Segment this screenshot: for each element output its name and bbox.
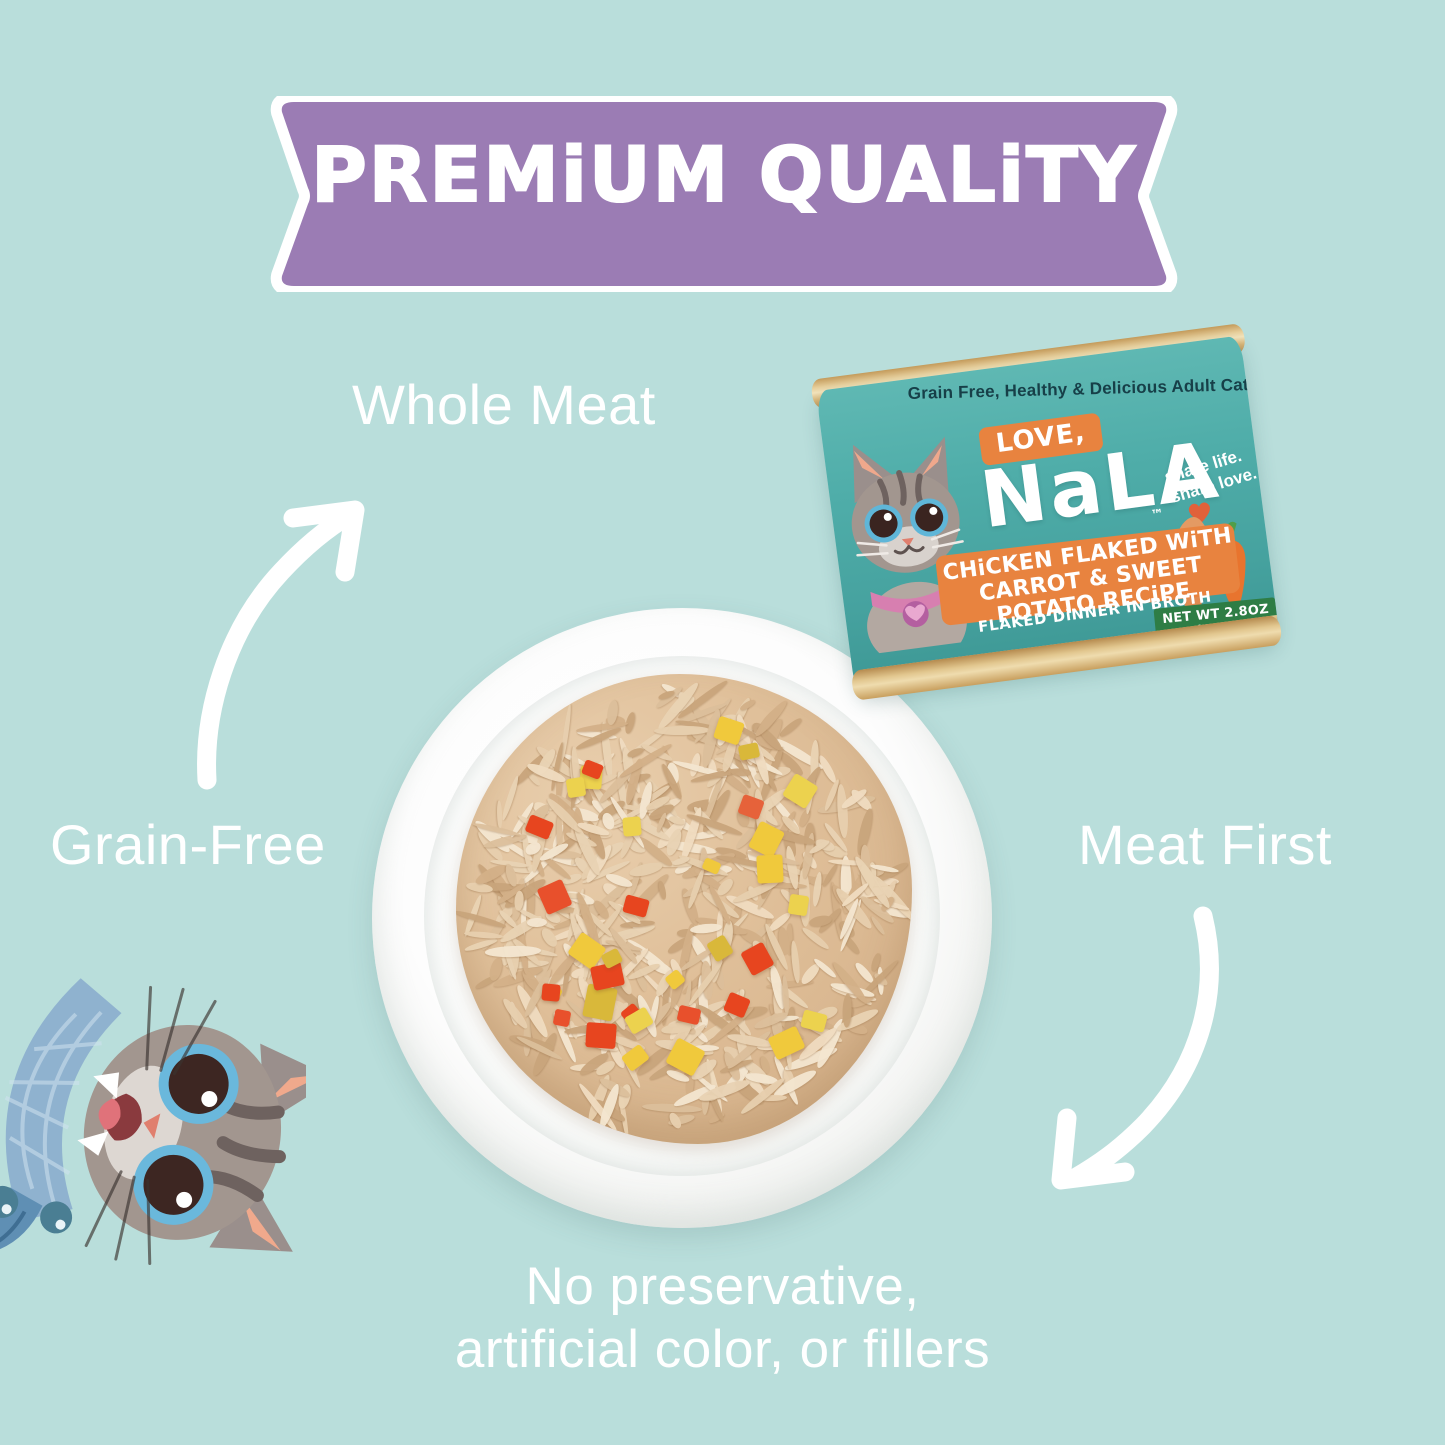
label-meat-first: Meat First bbox=[1078, 812, 1332, 877]
food-pile bbox=[456, 674, 912, 1144]
cat-food-can: Grain Free, Healthy & Delicious Adult Ca… bbox=[805, 316, 1290, 715]
label-grain-free: Grain-Free bbox=[50, 812, 326, 877]
can-tagline: Grain Free, Healthy & Delicious Adult Ca… bbox=[908, 375, 1238, 404]
premium-quality-banner: PREMiUM QUALiTY bbox=[268, 96, 1180, 292]
banner-title: PREMiUM QUALiTY bbox=[268, 130, 1180, 220]
label-whole-meat: Whole Meat bbox=[352, 372, 656, 437]
poster-canvas: PREMiUM QUALiTY Whole Meat Grain-Free Me… bbox=[0, 0, 1445, 1445]
nala-cat-mascot-icon: cartoon grey tabby cat with blue plaid b… bbox=[0, 932, 306, 1332]
curved-arrow-up-right-icon bbox=[175, 480, 415, 790]
curved-arrow-down-left-icon bbox=[1015, 880, 1265, 1200]
